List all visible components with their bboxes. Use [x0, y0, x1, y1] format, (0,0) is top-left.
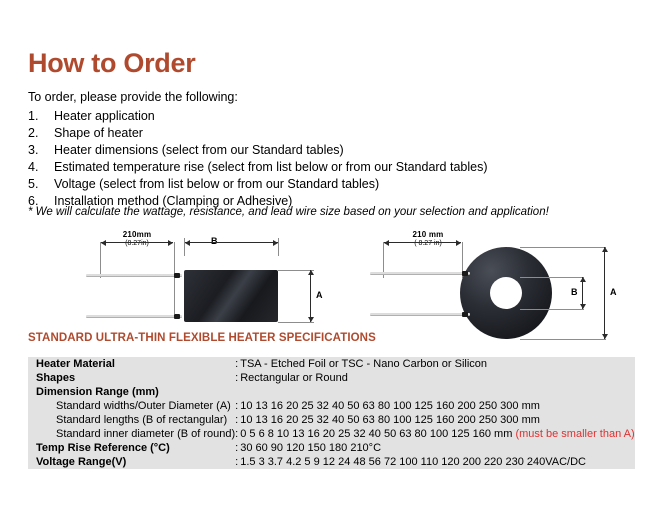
rect-ext-line-mid	[174, 242, 175, 314]
round-heater-hole	[490, 277, 522, 309]
list-item-label: Estimated temperature rise (select from …	[54, 159, 628, 176]
spec-colon: :	[235, 427, 238, 441]
table-row: Standard widths/Outer Diameter (A) : 10 …	[28, 399, 635, 413]
rect-lead-wire-top	[86, 274, 182, 277]
footnote-text: * We will calculate the wattage, resista…	[28, 205, 549, 219]
spec-value	[238, 385, 634, 399]
list-item: 2. Shape of heater	[28, 125, 628, 142]
rect-lead-length-value: 210mm	[123, 230, 152, 239]
spec-value: 0 5 6 8 10 13 16 20 25 32 40 50 63 80 10…	[240, 428, 512, 440]
table-row: Dimension Range (mm)	[28, 385, 635, 399]
list-item-number: 4.	[28, 159, 54, 176]
round-inner-dimension-arrow	[582, 277, 583, 309]
spec-label: Standard inner diameter (B of round)	[28, 427, 235, 441]
table-row: Standard inner diameter (B of round) : 0…	[28, 427, 635, 441]
rect-height-label: A	[316, 291, 323, 300]
spec-value: 10 13 16 20 25 32 40 50 63 80 100 125 16…	[238, 413, 634, 427]
spec-section-title: STANDARD ULTRA-THIN FLEXIBLE HEATER SPEC…	[28, 332, 376, 344]
list-item: 4. Estimated temperature rise (select fr…	[28, 159, 628, 176]
spec-value-row: 0 5 6 8 10 13 16 20 25 32 40 50 63 80 10…	[238, 427, 634, 441]
spec-label: Dimension Range (mm)	[28, 385, 235, 399]
page-title: How to Order	[28, 50, 195, 77]
round-lead-tip-bottom	[462, 312, 468, 317]
spec-label: Standard lengths (B of rectangular)	[28, 413, 235, 427]
table-row: Voltage Range(V) : 1.5 3 3.7 4.2 5 9 12 …	[28, 455, 635, 469]
rect-lead-tip-bottom	[174, 314, 180, 319]
round-ext-line-b-bottom	[520, 309, 584, 310]
order-requirements-list: 1. Heater application 2. Shape of heater…	[28, 108, 628, 210]
spec-label: Standard widths/Outer Diameter (A)	[28, 399, 235, 413]
spec-colon: :	[235, 455, 238, 469]
spec-value: TSA - Etched Foil or TSC - Nano Carbon o…	[238, 357, 634, 371]
list-item-label: Heater dimensions (select from our Stand…	[54, 142, 628, 159]
spec-value: 1.5 3 3.7 4.2 5 9 12 24 48 56 72 100 110…	[238, 455, 634, 469]
rect-width-dimension-arrow	[185, 242, 278, 243]
rect-lead-tip-top	[174, 273, 180, 278]
specifications-table: Heater Material : TSA - Etched Foil or T…	[28, 357, 635, 469]
list-item-number: 1.	[28, 108, 54, 125]
list-item-label: Heater application	[54, 108, 628, 125]
spec-label: Shapes	[28, 371, 235, 385]
round-lead-length-value: 210 mm	[413, 230, 444, 239]
round-ext-line-a-bottom	[520, 339, 606, 340]
table-row: Shapes : Rectangular or Round	[28, 371, 635, 385]
rect-ext-line-a-bottom	[278, 322, 314, 323]
rectangular-heater-body	[184, 270, 278, 322]
rect-height-dimension-arrow	[310, 270, 311, 322]
spec-colon: :	[235, 399, 238, 413]
spec-label: Voltage Range(V)	[28, 455, 235, 469]
list-item: 5. Voltage (select from list below or fr…	[28, 176, 628, 193]
spec-colon: :	[235, 413, 238, 427]
rect-lead-length-inches: (8.27in)	[100, 239, 174, 248]
round-lead-wire-bottom	[370, 313, 470, 316]
list-item: 1. Heater application	[28, 108, 628, 125]
spec-label: Temp Rise Reference (°C)	[28, 441, 235, 455]
round-ext-line-b-top	[520, 277, 584, 278]
list-item: 3. Heater dimensions (select from our St…	[28, 142, 628, 159]
spec-colon: :	[235, 441, 238, 455]
spec-value-warning: (must be smaller than A)	[515, 428, 634, 440]
rect-ext-line-left	[100, 242, 101, 278]
rect-ext-line-b-right	[278, 238, 279, 256]
round-lead-wire-top	[370, 272, 470, 275]
round-inner-label: B	[571, 288, 578, 297]
intro-text: To order, please provide the following:	[28, 90, 238, 106]
rect-lead-dimension-arrow	[101, 242, 173, 243]
rect-lead-wire-bottom	[86, 315, 182, 318]
spec-value: 30 60 90 120 150 180 210°C	[238, 441, 634, 455]
round-outer-dimension-arrow	[604, 247, 605, 339]
list-item-number: 5.	[28, 176, 54, 193]
list-item-number: 3.	[28, 142, 54, 159]
spec-label: Heater Material	[28, 357, 235, 371]
list-item-label: Voltage (select from list below or from …	[54, 176, 628, 193]
round-ext-line-a-top	[520, 247, 606, 248]
round-outer-label: A	[610, 288, 617, 297]
spec-colon: :	[235, 371, 238, 385]
round-lead-dimension-arrow	[384, 242, 461, 243]
product-diagrams: 210mm (8.27in) B A 210 mm ( 8.27 in) B A	[0, 228, 650, 340]
rect-lead-length-label: 210mm (8.27in)	[100, 230, 174, 248]
spec-value: 10 13 16 20 25 32 40 50 63 80 100 125 16…	[238, 399, 634, 413]
list-item-number: 2.	[28, 125, 54, 142]
table-row: Heater Material : TSA - Etched Foil or T…	[28, 357, 635, 371]
spec-value: Rectangular or Round	[238, 371, 634, 385]
table-row: Temp Rise Reference (°C) : 30 60 90 120 …	[28, 441, 635, 455]
table-row: Standard lengths (B of rectangular) : 10…	[28, 413, 635, 427]
round-lead-tip-top	[462, 271, 468, 276]
spec-colon: :	[235, 357, 238, 371]
list-item-label: Shape of heater	[54, 125, 628, 142]
